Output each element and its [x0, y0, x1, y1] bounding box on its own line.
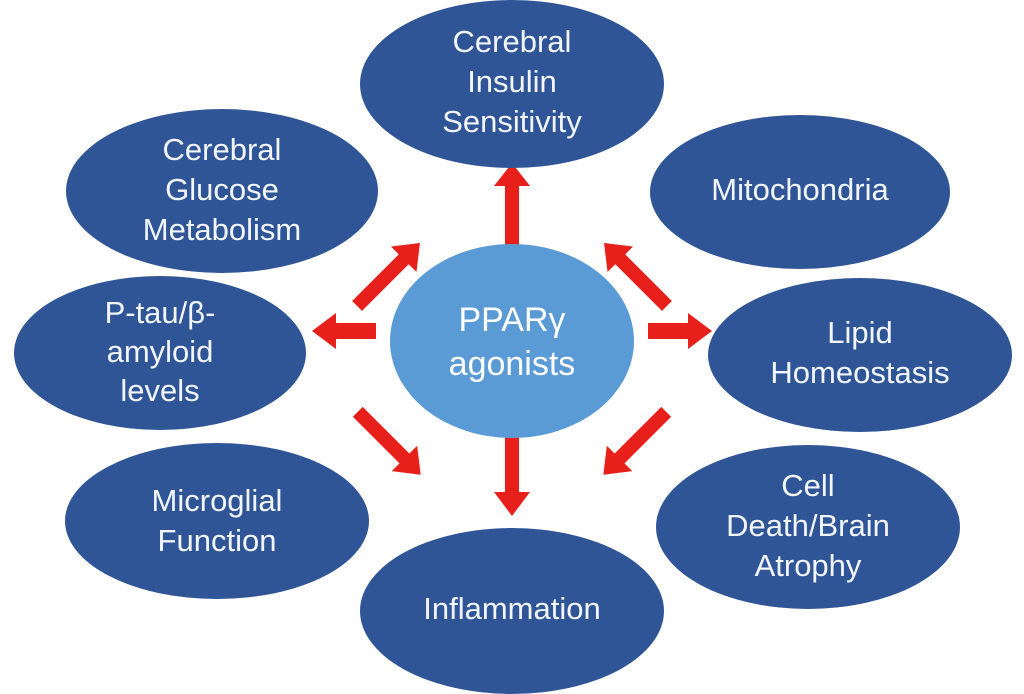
node-label-line3: levels [120, 373, 199, 408]
arrow-right [648, 313, 712, 349]
center-label-line2: agonists [449, 345, 576, 383]
ppar-gamma-radial-diagram: Cerebral Insulin Sensitivity Mitochondri… [0, 0, 1024, 694]
node-inflammation[interactable]: Inflammation [360, 528, 664, 694]
arrow-down [494, 434, 530, 516]
node-label-line1: Cerebral [453, 24, 572, 59]
node-label-line1: P-tau/β- [105, 295, 216, 330]
center-ellipse[interactable] [390, 244, 634, 438]
node-label-line1: Cerebral [163, 132, 282, 167]
node-label-line2: Insulin [467, 64, 557, 99]
node-label-line2: amyloid [107, 334, 214, 369]
node-label-line1: Lipid [827, 315, 893, 350]
node-label-line3: Atrophy [755, 548, 862, 583]
arrow-down-right [591, 399, 679, 487]
node-label-line3: Sensitivity [442, 104, 582, 139]
node-label-line2: Function [158, 523, 277, 558]
node-microglial-function[interactable]: Microglial Function [65, 443, 369, 599]
node-mitochondria[interactable]: Mitochondria [650, 115, 950, 269]
node-label-line2: Glucose [165, 172, 279, 207]
node-label-line2: Death/Brain [726, 508, 890, 543]
node-p-tau-beta-amyloid-levels[interactable]: P-tau/β- amyloid levels [14, 276, 306, 430]
node-cell-death-brain-atrophy[interactable]: Cell Death/Brain Atrophy [656, 445, 960, 609]
arrow-down-left [345, 399, 433, 487]
arrow-left [312, 313, 376, 349]
node-label-line2: Homeostasis [770, 355, 949, 390]
node-ellipse[interactable] [65, 443, 369, 599]
node-label-line3: Metabolism [143, 212, 302, 247]
diagram-canvas: Cerebral Insulin Sensitivity Mitochondri… [0, 0, 1024, 694]
node-cerebral-insulin-sensitivity[interactable]: Cerebral Insulin Sensitivity [360, 0, 664, 168]
node-label-line1: Cell [781, 468, 834, 503]
node-center-ppar-gamma-agonists[interactable]: PPARγ agonists [390, 244, 634, 438]
node-label-line1: Inflammation [423, 591, 600, 626]
node-cerebral-glucose-metabolism[interactable]: Cerebral Glucose Metabolism [66, 109, 378, 273]
center-label-line1: PPARγ [458, 301, 565, 339]
node-label-line1: Microglial [152, 483, 283, 518]
node-lipid-homeostasis[interactable]: Lipid Homeostasis [708, 278, 1012, 432]
node-label-line1: Mitochondria [711, 172, 889, 207]
arrow-up [494, 163, 530, 255]
